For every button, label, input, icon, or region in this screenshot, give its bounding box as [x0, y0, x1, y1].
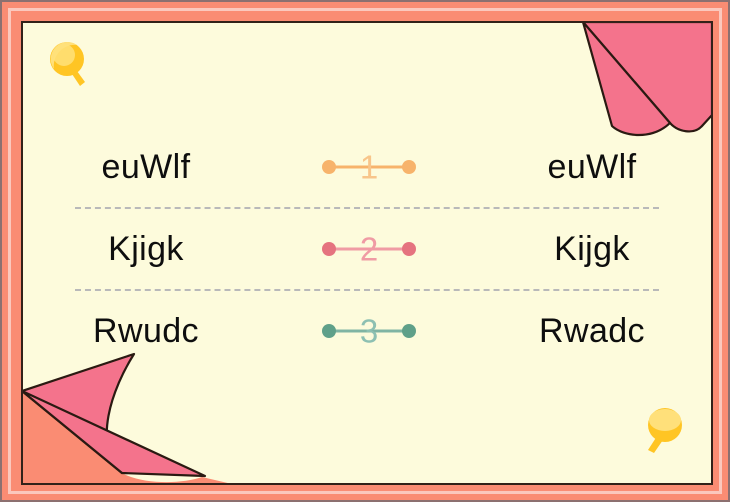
row-left-label: euWlf: [23, 150, 279, 184]
matching-rows-container: euWlf 1 euWlf Kjigk: [23, 127, 711, 371]
connector-number: 2: [322, 233, 416, 266]
row-right-label: euWlf: [459, 150, 713, 184]
connector-number: 3: [322, 315, 416, 348]
connector-3: 3: [322, 311, 416, 351]
pushpin-bottom-right-icon: [637, 403, 689, 455]
row-right-label: Kijgk: [459, 232, 713, 266]
row-left-label: Kjigk: [23, 232, 279, 266]
row-connector[interactable]: 1: [279, 127, 459, 207]
row-connector[interactable]: 2: [279, 209, 459, 289]
connector-number: 1: [322, 151, 416, 184]
row-left-label: Rwudc: [23, 314, 279, 348]
matching-row[interactable]: Rwudc 3 Rwadc: [23, 291, 711, 371]
row-right-label: Rwadc: [459, 314, 713, 348]
poster-frame: euWlf 1 euWlf Kjigk: [0, 0, 730, 502]
connector-2: 2: [322, 229, 416, 269]
pushpin-top-left-icon: [43, 37, 95, 89]
connector-1: 1: [322, 147, 416, 187]
matching-row[interactable]: Kjigk 2 Kijgk: [23, 209, 711, 289]
note-page: euWlf 1 euWlf Kjigk: [21, 21, 713, 485]
matching-row[interactable]: euWlf 1 euWlf: [23, 127, 711, 207]
row-connector[interactable]: 3: [279, 291, 459, 371]
